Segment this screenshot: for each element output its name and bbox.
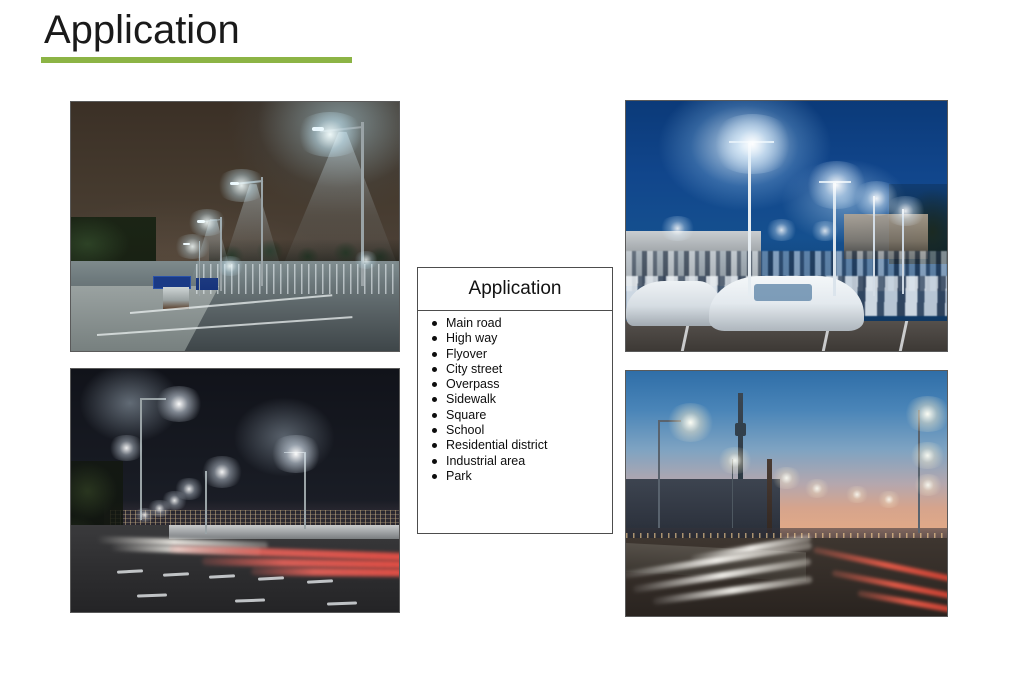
list-item: Industrial area <box>432 454 612 469</box>
street-lamp-pole <box>220 217 222 292</box>
street-lamp-pole <box>199 241 200 296</box>
street-lamp-pole <box>658 420 660 528</box>
highway-scene <box>71 369 399 612</box>
pole-light-crossbar <box>729 141 774 143</box>
car-windshield <box>754 284 812 302</box>
application-table-header-text: Application <box>469 278 562 300</box>
bullet-icon <box>432 428 437 433</box>
vehicle-light-trail-red <box>251 568 399 577</box>
page-title: Application <box>44 6 240 54</box>
foreground-car-left <box>626 281 722 326</box>
list-item-label: Residential district <box>446 438 547 452</box>
list-item: Overpass <box>432 377 612 392</box>
bullet-icon <box>432 367 437 372</box>
list-item-label: Industrial area <box>446 454 525 468</box>
factory-chimney <box>767 459 772 533</box>
lane-dash <box>327 601 357 605</box>
list-item-label: School <box>446 423 484 437</box>
list-item: School <box>432 423 612 438</box>
street-lamp-arm <box>658 420 680 422</box>
pole-light-crossbar <box>819 181 851 183</box>
list-item: High way <box>432 331 612 346</box>
list-item: Main road <box>432 316 612 331</box>
pole-light-mast <box>902 209 904 294</box>
list-item: City street <box>432 362 612 377</box>
street-lamp-head <box>183 243 190 245</box>
list-item: Residential district <box>432 438 612 453</box>
list-item-label: Square <box>446 408 486 422</box>
street-lamp-pole <box>205 471 207 534</box>
application-table: Application Main road High way Flyover C… <box>417 267 613 534</box>
bullet-icon <box>432 413 437 418</box>
photo-main-road <box>70 101 400 352</box>
distant-vehicle <box>163 287 189 309</box>
highway-barrier <box>169 525 399 540</box>
list-item-label: Flyover <box>446 347 487 361</box>
list-item-label: Main road <box>446 316 502 330</box>
application-table-header: Application <box>418 268 612 311</box>
parking-lot-scene <box>626 101 947 351</box>
application-list: Main road High way Flyover City street O… <box>418 316 612 484</box>
photo-parking-lot <box>625 100 948 352</box>
overpass-scene <box>626 371 947 616</box>
list-item: Flyover <box>432 347 612 362</box>
bullet-icon <box>432 459 437 464</box>
photo-highway <box>70 368 400 613</box>
street-lamp-pole <box>140 398 142 520</box>
list-item-label: Sidewalk <box>446 392 496 406</box>
bullet-icon <box>432 336 437 341</box>
slide-canvas: Application <box>0 0 1014 674</box>
median-fence <box>196 264 399 294</box>
street-lamp-head <box>230 182 239 185</box>
list-item: Park <box>432 469 612 484</box>
list-item: Sidewalk <box>432 392 612 407</box>
list-item-label: Park <box>446 469 472 483</box>
photo-overpass <box>625 370 948 617</box>
bullet-icon <box>432 443 437 448</box>
street-lamp-pole <box>361 122 364 286</box>
street-lamp-arm <box>140 398 166 400</box>
bullet-icon <box>432 352 437 357</box>
bullet-icon <box>432 474 437 479</box>
application-table-body: Main road High way Flyover City street O… <box>418 311 612 484</box>
title-underline-rule <box>41 57 352 63</box>
bullet-icon <box>432 397 437 402</box>
list-item-label: City street <box>446 362 502 376</box>
bullet-icon <box>432 321 437 326</box>
street-lamp-pole <box>732 459 734 528</box>
street-lamp-arm <box>284 452 305 454</box>
list-item-label: High way <box>446 331 497 345</box>
pole-light-mast <box>873 196 875 296</box>
street-lamp-head <box>312 127 324 131</box>
main-road-scene <box>71 102 399 351</box>
bullet-icon <box>432 382 437 387</box>
pole-light-mast <box>833 181 836 296</box>
street-lamp-pole <box>918 410 920 533</box>
list-item: Square <box>432 408 612 423</box>
street-lamp-pole <box>304 452 306 530</box>
pole-light-mast <box>748 141 751 296</box>
street-lamp-pole <box>261 177 263 287</box>
street-lamp-head <box>197 220 205 223</box>
list-item-label: Overpass <box>446 377 500 391</box>
